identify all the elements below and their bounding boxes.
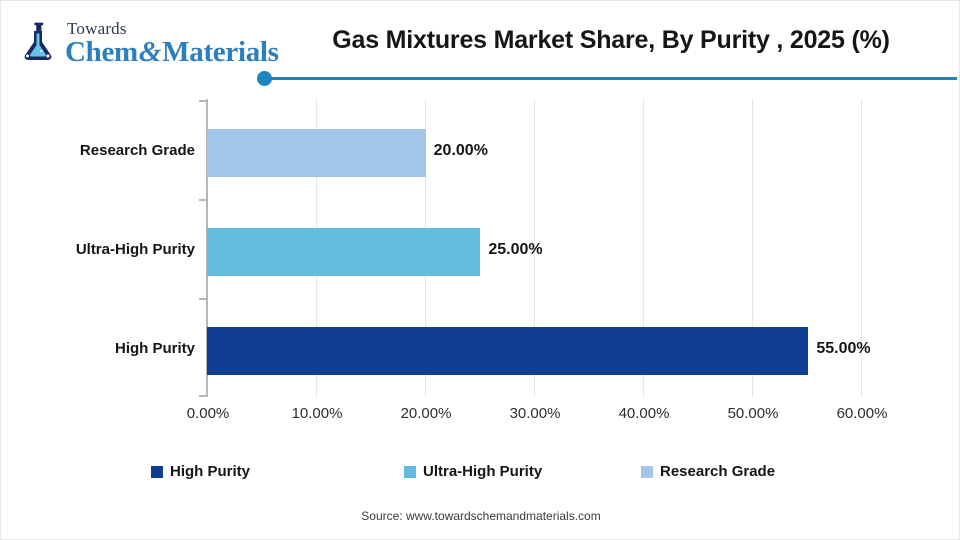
legend-label-research-grade: Research Grade [660, 463, 775, 480]
y-axis-tick [199, 100, 207, 102]
brand-word-chem: Chem [65, 36, 138, 68]
brand-word-materials: Materials [162, 36, 278, 68]
chart-legend: High Purity Ultra-High Purity Research G… [151, 463, 831, 489]
divider-dot-icon [257, 71, 272, 86]
page-title: Gas Mixtures Market Share, By Purity , 2… [301, 26, 921, 55]
header-divider [257, 71, 957, 87]
x-axis-tick-labels: 0.00% 10.00% 20.00% 30.00% 40.00% 50.00%… [1, 405, 960, 429]
flask-icon [15, 20, 61, 66]
legend-item-ultra-high-purity[interactable]: Ultra-High Purity [404, 463, 542, 480]
legend-item-high-purity[interactable]: High Purity [151, 463, 250, 480]
brand-main-word: Chem&Materials [65, 38, 279, 67]
bar-value-research-grade: 20.00% [434, 142, 488, 160]
x-axis-tick-label: 10.00% [267, 405, 367, 422]
x-axis-tick-label: 40.00% [594, 405, 694, 422]
y-axis-label-high-purity: High Purity [115, 340, 195, 357]
legend-label-high-purity: High Purity [170, 463, 250, 480]
x-axis-tick-label: 50.00% [703, 405, 803, 422]
y-axis-label-ultra-high-purity: Ultra-High Purity [76, 241, 195, 258]
brand-wordmark: Towards Chem&Materials [65, 20, 279, 67]
brand-top-word: Towards [67, 20, 279, 37]
y-axis-tick [199, 199, 207, 201]
plot-area: 20.00% 25.00% 55.00% [207, 99, 863, 397]
x-axis-tick-label: 20.00% [376, 405, 476, 422]
x-axis-tick-label: 0.00% [158, 405, 258, 422]
x-axis-tick-label: 60.00% [812, 405, 912, 422]
divider-line [265, 77, 957, 80]
source-note: Source: www.towardschemandmaterials.com [1, 509, 960, 523]
y-axis-label-research-grade: Research Grade [80, 142, 195, 159]
bar-research-grade[interactable] [207, 129, 426, 177]
bar-ultra-high-purity[interactable] [207, 228, 480, 276]
y-axis-tick [199, 298, 207, 300]
brand-logo: Towards Chem&Materials [15, 17, 265, 69]
y-axis-category-labels: Research Grade Ultra-High Purity High Pu… [1, 99, 195, 397]
legend-swatch-icon [641, 466, 653, 478]
chart-page: Towards Chem&Materials Gas Mixtures Mark… [0, 0, 960, 540]
bar-value-ultra-high-purity: 25.00% [488, 241, 542, 259]
legend-swatch-icon [151, 466, 163, 478]
x-axis-tick-label: 30.00% [485, 405, 585, 422]
brand-ampersand: & [138, 36, 162, 68]
legend-swatch-icon [404, 466, 416, 478]
bar-value-high-purity: 55.00% [816, 340, 870, 358]
legend-label-ultra-high-purity: Ultra-High Purity [423, 463, 542, 480]
y-axis-tick [199, 395, 207, 397]
legend-item-research-grade[interactable]: Research Grade [641, 463, 775, 480]
bar-high-purity[interactable] [207, 327, 808, 375]
